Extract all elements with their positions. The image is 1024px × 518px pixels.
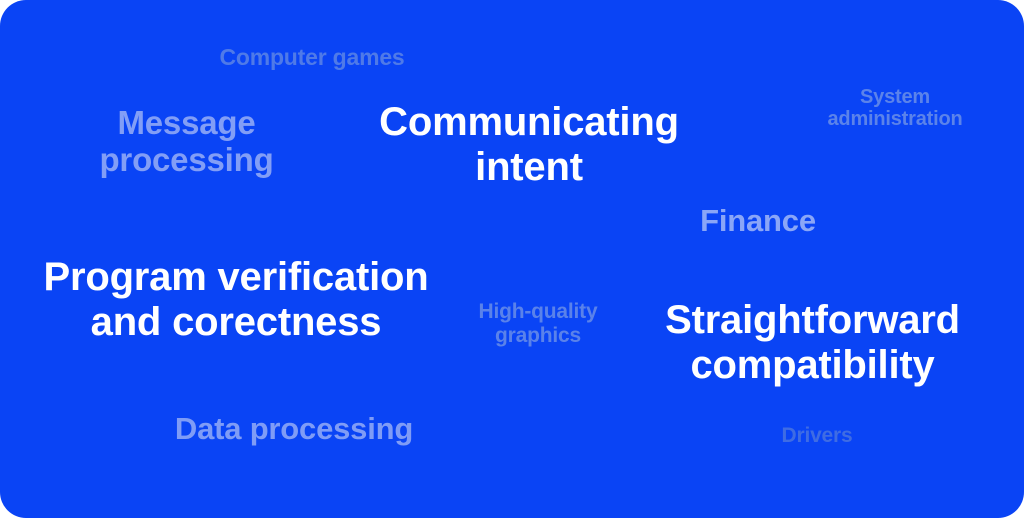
wordcloud-canvas: Computer games Message processing Commun… bbox=[0, 0, 1024, 518]
word-data-processing[interactable]: Data processing bbox=[150, 412, 438, 447]
word-communicating-intent[interactable]: Communicating intent bbox=[378, 100, 680, 190]
word-finance[interactable]: Finance bbox=[678, 204, 838, 239]
word-high-quality-graphics[interactable]: High-quality graphics bbox=[455, 300, 621, 347]
word-drivers[interactable]: Drivers bbox=[752, 424, 882, 448]
word-computer-games[interactable]: Computer games bbox=[198, 45, 426, 71]
word-system-administration[interactable]: System administration bbox=[795, 86, 995, 131]
word-straightforward-compatibility[interactable]: Straightforward compatibility bbox=[655, 298, 970, 388]
word-program-verification-and-corectness[interactable]: Program verification and corectness bbox=[30, 255, 442, 345]
word-message-processing[interactable]: Message processing bbox=[80, 105, 293, 179]
